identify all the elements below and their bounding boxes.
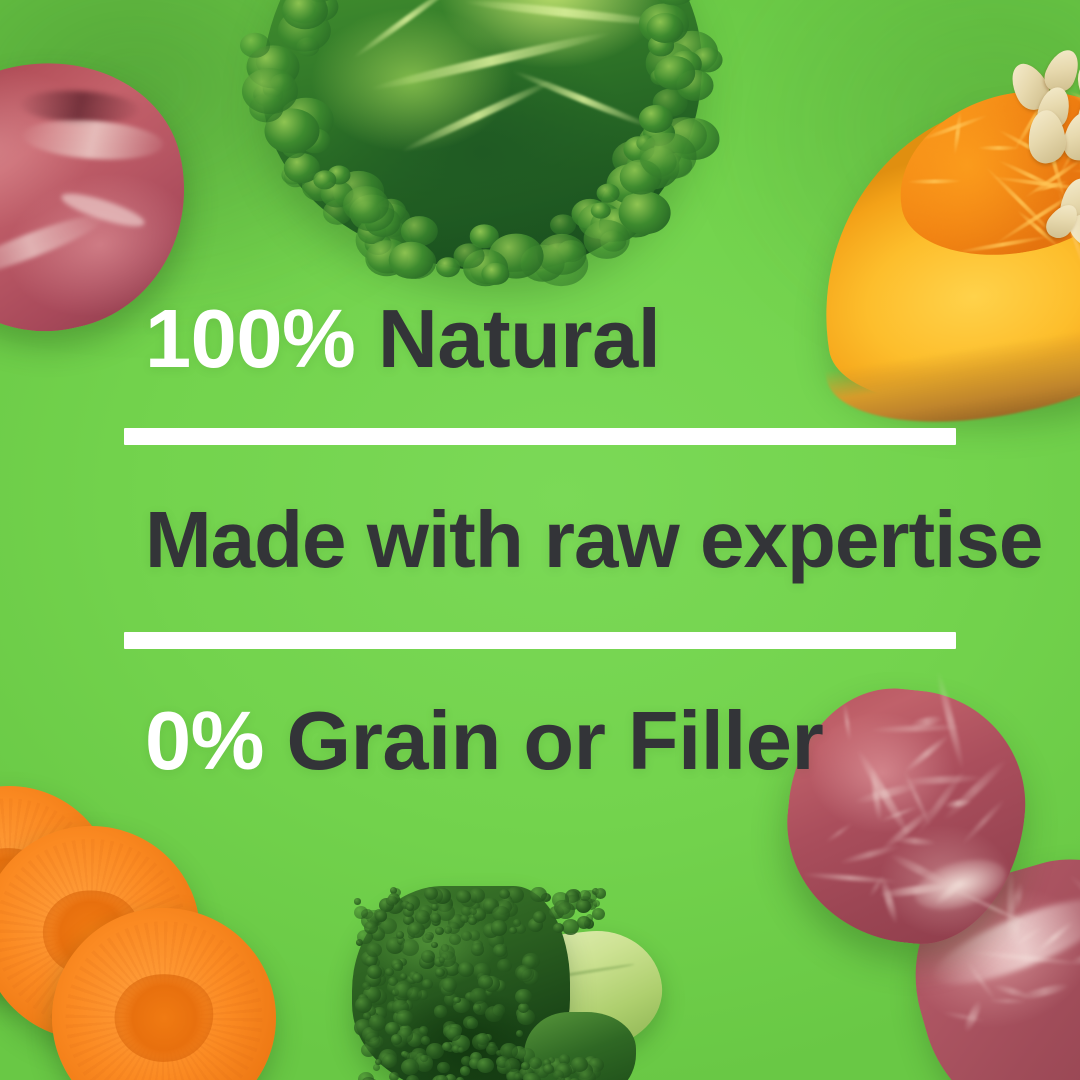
divider-top (124, 428, 956, 445)
claim-natural: 100% Natural (145, 297, 660, 380)
claim-raw-expertise: Made with raw expertise (145, 500, 1042, 580)
marketing-graphic-canvas: 100% Natural Made with raw expertise 0% … (0, 0, 1080, 1080)
claim-grain-free: 0% Grain or Filler (145, 699, 823, 782)
claim-grain-free-text: Grain or Filler (264, 694, 823, 787)
claim-natural-percent: 100% (145, 292, 355, 385)
claims-block: 100% Natural Made with raw expertise 0% … (0, 0, 1080, 1080)
claim-natural-text: Natural (355, 292, 660, 385)
claim-grain-free-percent: 0% (145, 694, 264, 787)
claim-raw-expertise-text: Made with raw expertise (145, 495, 1042, 584)
divider-bottom (124, 632, 956, 649)
